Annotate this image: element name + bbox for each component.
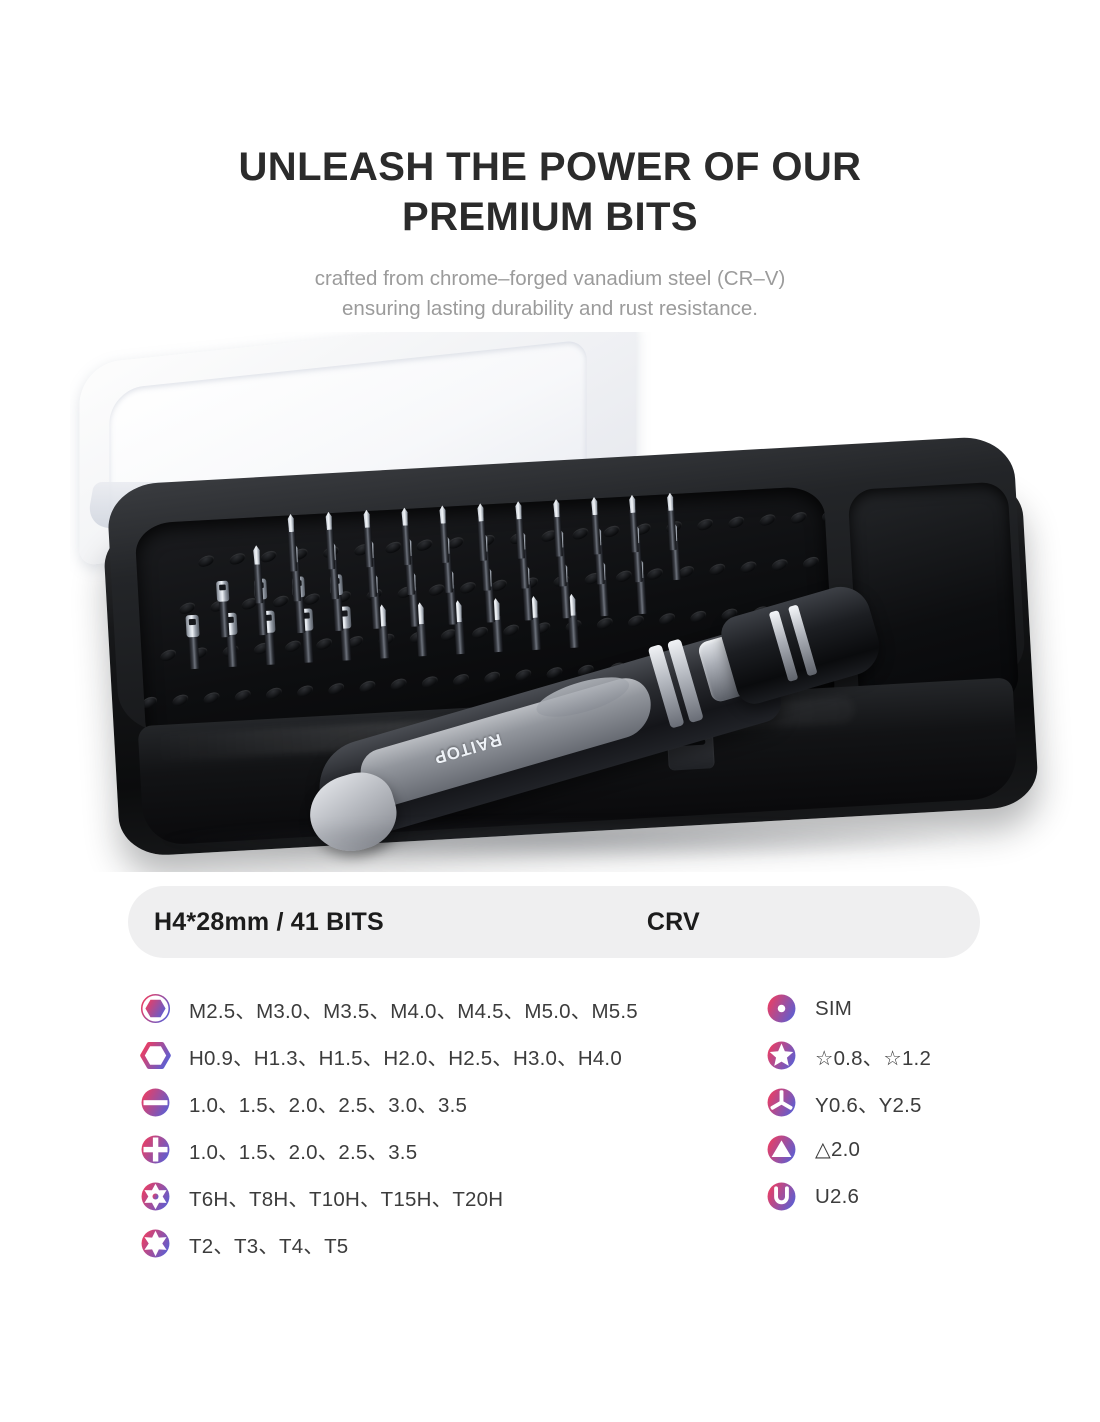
bit-slot	[314, 638, 334, 650]
bit-slot	[196, 555, 216, 567]
bit-spec-lists: M2.5、M3.0、M3.5、M4.0、M4.5、M5.0、M5.5H0.9、H…	[0, 985, 1100, 1275]
bit-slot	[139, 696, 159, 708]
bit-slot	[758, 514, 778, 526]
bit-spec-values: T6H、T8H、T10H、T15H、T20H	[189, 1182, 503, 1212]
bit-spec-values: SIM	[815, 997, 852, 1021]
torx-security-icon	[140, 1181, 171, 1212]
tri-wing-icon	[766, 1087, 797, 1118]
bit-slot	[171, 694, 191, 706]
bit-slot	[415, 539, 435, 551]
bit-slot	[295, 685, 315, 697]
bit-slot	[228, 553, 248, 565]
bit-slot	[789, 512, 809, 524]
bit-slot	[820, 509, 836, 521]
bit-slot	[707, 563, 727, 575]
bit-slot	[358, 680, 378, 692]
hex-socket-icon	[140, 993, 171, 1024]
subtitle-line-2: ensuring lasting durability and rust res…	[210, 294, 890, 324]
bit-slot	[470, 626, 490, 638]
bit-slot	[233, 690, 253, 702]
bit-slot	[595, 617, 615, 629]
handle-compartment	[848, 481, 1020, 710]
bit-case: RAITOP	[100, 425, 1041, 872]
bit-spec-row: Y0.6、Y2.5	[766, 1079, 1046, 1126]
slotted-icon	[140, 1087, 171, 1118]
bit-spec-values: T2、T3、T4、T5	[189, 1229, 348, 1259]
bit-slot	[614, 570, 634, 582]
bit-slot	[202, 692, 222, 704]
u-shape-icon	[766, 1181, 797, 1212]
bit-spec-row: ☆0.8、☆1.2	[766, 1032, 1046, 1079]
torx-icon	[140, 1228, 171, 1259]
page-subtitle: crafted from chrome–forged vanadium stee…	[210, 264, 890, 323]
bit-slot	[458, 582, 478, 594]
bit-slot	[177, 602, 197, 614]
bit-spec-values: 1.0、1.5、2.0、2.5、3.0、3.5	[189, 1088, 467, 1118]
bit-slot	[264, 687, 284, 699]
bit-spec-row: H0.9、H1.3、H1.5、H2.0、H2.5、H3.0、H4.0	[140, 1032, 740, 1079]
product-photo: RAITOP	[70, 332, 1080, 872]
bit-slot	[158, 649, 178, 661]
bit-spec-values: U2.6	[815, 1185, 859, 1209]
bit-slot	[271, 595, 291, 607]
bit-slot	[501, 624, 521, 636]
bit-spec-values: 1.0、1.5、2.0、2.5、3.5	[189, 1135, 417, 1165]
bit-slot	[326, 683, 346, 695]
handle-shaft	[717, 580, 886, 708]
bit-slot	[801, 556, 821, 568]
bit-slot	[283, 640, 303, 652]
headline-block: UNLEASH THE POWER OF OUR PREMIUM BITS cr…	[0, 142, 1100, 323]
bit-slot	[602, 525, 622, 537]
bit-spec-column-right: SIM☆0.8、☆1.2Y0.6、Y2.5△2.0U2.6	[766, 985, 1046, 1220]
bit-spec-column-left: M2.5、M3.0、M3.5、M4.0、M4.5、M5.0、M5.5H0.9、H…	[140, 985, 740, 1267]
bit-spec-row: 1.0、1.5、2.0、2.5、3.5	[140, 1126, 740, 1173]
bit-spec-row: △2.0	[766, 1126, 1046, 1173]
bit-spec-row: T2、T3、T4、T5	[140, 1220, 740, 1267]
bit-slot	[770, 559, 790, 571]
product-shadow	[160, 818, 960, 862]
bit-slot	[645, 568, 665, 580]
phillips-icon	[140, 1134, 171, 1165]
page-title: UNLEASH THE POWER OF OUR PREMIUM BITS	[200, 142, 900, 242]
hex-outline-icon	[140, 1040, 171, 1071]
bit-slot	[420, 676, 440, 688]
sim-pin-icon	[766, 993, 797, 1024]
bit-spec-row: U2.6	[766, 1173, 1046, 1220]
bit-spec-values: Y0.6、Y2.5	[815, 1088, 922, 1118]
spec-size-label: H4*28mm / 41 BITS	[154, 908, 384, 937]
spec-material-label: CRV	[647, 908, 700, 937]
bit-slot	[695, 518, 715, 530]
bit-spec-row: 1.0、1.5、2.0、2.5、3.0、3.5	[140, 1079, 740, 1126]
triangle-icon	[766, 1134, 797, 1165]
bit-slot	[739, 561, 759, 573]
bit-spec-row: M2.5、M3.0、M3.5、M4.0、M4.5、M5.0、M5.5	[140, 985, 740, 1032]
bit-spec-values: H0.9、H1.3、H1.5、H2.0、H2.5、H3.0、H4.0	[189, 1041, 622, 1071]
bit-slot	[727, 516, 747, 528]
bit-spec-values: △2.0	[815, 1137, 860, 1162]
bit-spec-row: SIM	[766, 985, 1046, 1032]
spec-summary-bar: H4*28mm / 41 BITS CRV	[128, 886, 980, 958]
subtitle-line-1: crafted from chrome–forged vanadium stee…	[210, 264, 890, 294]
bit-spec-row: T6H、T8H、T10H、T15H、T20H	[140, 1173, 740, 1220]
bit-spec-values: M2.5、M3.0、M3.5、M4.0、M4.5、M5.0、M5.5	[189, 994, 638, 1024]
pentalobe-icon	[766, 1040, 797, 1071]
bit-slot	[626, 615, 646, 627]
bit-slot	[571, 528, 591, 540]
bit-spec-values: ☆0.8、☆1.2	[815, 1041, 931, 1071]
bit-slot	[389, 678, 409, 690]
photo-stage: RAITOP	[70, 332, 1080, 872]
